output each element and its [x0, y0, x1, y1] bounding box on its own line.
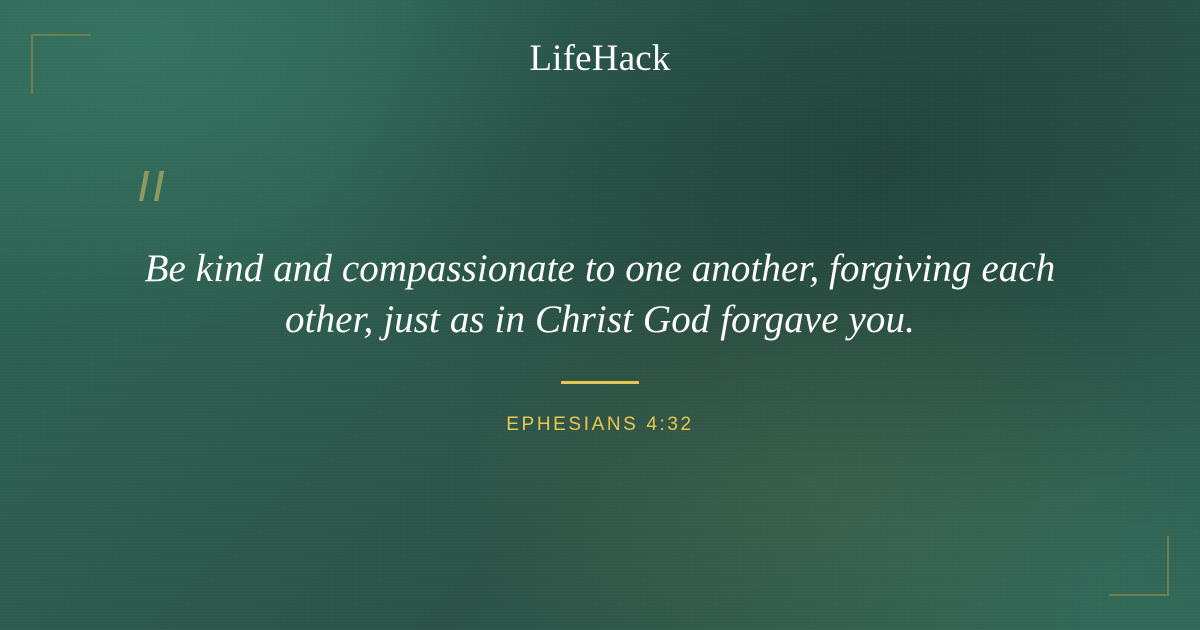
divider-rule	[561, 381, 639, 384]
quote-text: Be kind and compassionate to one another…	[100, 243, 1100, 345]
quote-attribution: EPHESIANS 4:32	[0, 414, 1200, 436]
quotation-mark-icon	[130, 168, 176, 216]
quote-card: LifeHack Be kind and compassionate to on…	[0, 0, 1200, 630]
quote-block: Be kind and compassionate to one another…	[100, 243, 1100, 345]
brand-logo: LifeHack	[0, 40, 1200, 77]
